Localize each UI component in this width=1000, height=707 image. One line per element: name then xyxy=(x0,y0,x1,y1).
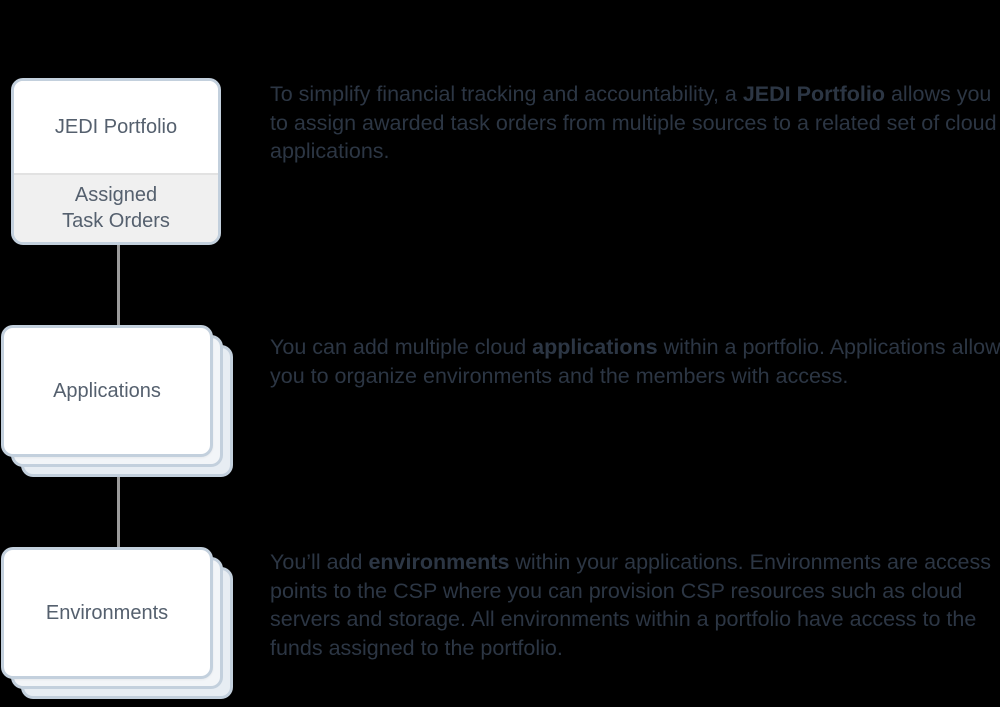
environments-label: Environments xyxy=(46,600,168,626)
environments-card-front: Environments xyxy=(1,547,213,679)
node-applications: Applications xyxy=(1,325,233,477)
description-environments: You’ll add environments within your appl… xyxy=(270,548,1000,662)
jedi-portfolio-header: JEDI Portfolio xyxy=(14,81,218,173)
node-environments: Environments xyxy=(1,547,233,699)
description-portfolio: To simplify financial tracking and accou… xyxy=(270,80,1000,166)
description-applications-emphasis: applications xyxy=(532,335,657,359)
diagram-canvas: JEDI Portfolio Assigned Task Orders Appl… xyxy=(0,0,1000,707)
description-applications: You can add multiple cloud applications … xyxy=(270,333,1000,390)
description-portfolio-lead: To simplify financial tracking and accou… xyxy=(270,82,743,106)
description-environments-lead: You’ll add xyxy=(270,550,368,574)
description-environments-emphasis: environments xyxy=(368,550,509,574)
connector-applications-to-environments xyxy=(117,466,120,550)
description-applications-lead: You can add multiple cloud xyxy=(270,335,532,359)
jedi-portfolio-label: JEDI Portfolio xyxy=(55,114,177,140)
connector-portfolio-to-applications xyxy=(117,245,120,328)
jedi-portfolio-body: Assigned Task Orders xyxy=(14,175,218,242)
assigned-task-orders-label: Assigned Task Orders xyxy=(62,182,170,234)
applications-card-front: Applications xyxy=(1,325,213,457)
applications-label: Applications xyxy=(53,378,161,404)
node-jedi-portfolio: JEDI Portfolio Assigned Task Orders xyxy=(11,78,221,245)
description-portfolio-emphasis: JEDI Portfolio xyxy=(743,82,885,106)
